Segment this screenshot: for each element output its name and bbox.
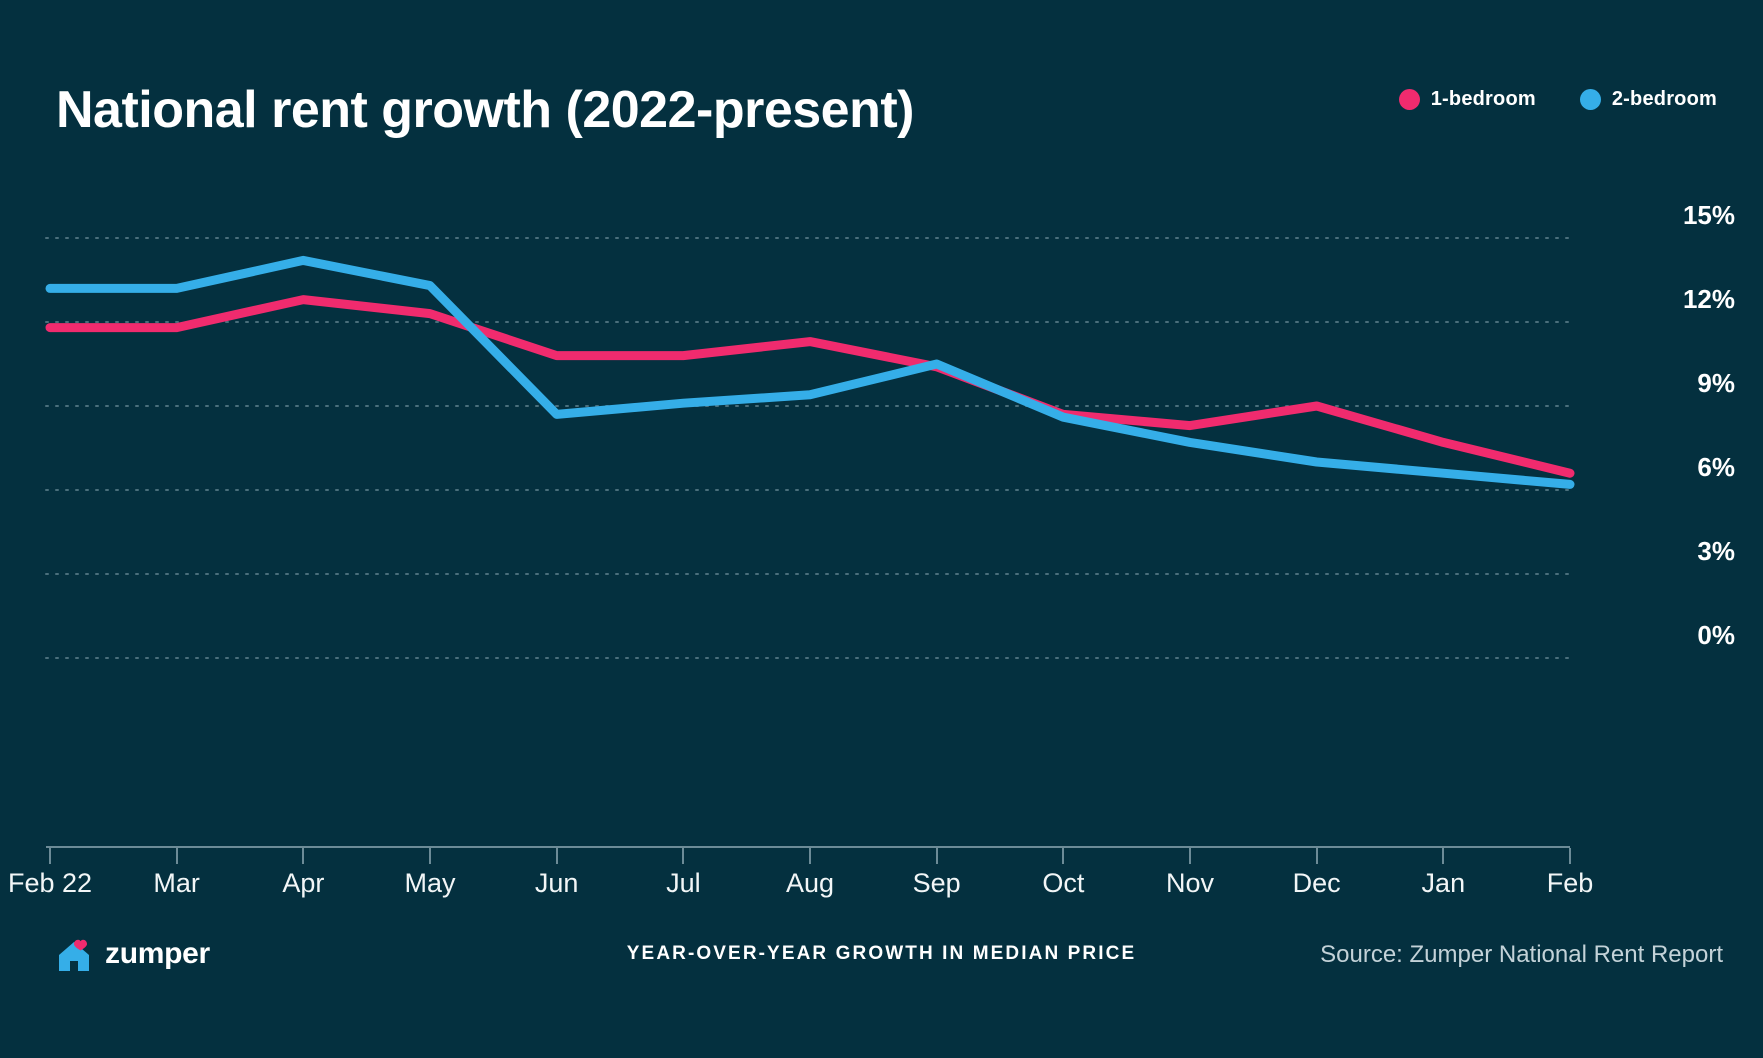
y-axis-tick-label: 15% xyxy=(1683,200,1735,231)
series-lines xyxy=(50,260,1570,484)
x-axis-tick-mark xyxy=(682,848,684,864)
x-axis-tick-mark xyxy=(1189,848,1191,864)
x-axis-tick-label: Jun xyxy=(535,868,579,899)
x-axis-tick-label: Dec xyxy=(1293,868,1341,899)
chart-legend: 1-bedroom 2-bedroom xyxy=(1399,88,1717,111)
x-axis-tick-label: Sep xyxy=(913,868,961,899)
gridlines xyxy=(46,238,1570,658)
y-axis-tick-label: 3% xyxy=(1697,536,1735,567)
legend-item-1-bedroom[interactable]: 1-bedroom xyxy=(1399,88,1536,111)
y-axis-tick-label: 6% xyxy=(1697,452,1735,483)
legend-label: 2-bedroom xyxy=(1612,88,1717,111)
legend-dot-icon xyxy=(1580,89,1601,110)
x-axis-tick-mark xyxy=(1316,848,1318,864)
x-axis-tick-mark xyxy=(809,848,811,864)
legend-label: 1-bedroom xyxy=(1431,88,1536,111)
x-axis: Feb 22MarAprMayJunJulAugSepOctNovDecJanF… xyxy=(0,846,1763,906)
x-axis-tick-mark xyxy=(556,848,558,864)
x-axis-tick-mark xyxy=(429,848,431,864)
series-line-2 xyxy=(50,260,1570,484)
x-axis-tick-label: Jul xyxy=(666,868,701,899)
chart-title: National rent growth (2022-present) xyxy=(56,78,914,142)
plot-area: 15%12%9%6%3%0% xyxy=(0,150,1763,830)
x-axis-tick-label: Aug xyxy=(786,868,834,899)
x-axis-tick-label: Oct xyxy=(1042,868,1084,899)
brand-name: zumper xyxy=(105,937,210,971)
legend-item-2-bedroom[interactable]: 2-bedroom xyxy=(1580,88,1717,111)
x-axis-tick-label: Jan xyxy=(1422,868,1466,899)
x-axis-tick-label: Apr xyxy=(282,868,324,899)
y-axis-tick-label: 0% xyxy=(1697,620,1735,651)
x-axis-tick-label: May xyxy=(404,868,455,899)
rent-growth-chart-card: National rent growth (2022-present) 1-be… xyxy=(0,0,1763,1058)
footer-source: Source: Zumper National Rent Report xyxy=(1320,941,1723,969)
y-axis-tick-label: 12% xyxy=(1683,284,1735,315)
chart-header: National rent growth (2022-present) 1-be… xyxy=(56,78,1723,148)
chart-canvas xyxy=(0,150,1763,830)
x-axis-tick-mark xyxy=(49,848,51,864)
x-axis-tick-label: Nov xyxy=(1166,868,1214,899)
zumper-logo[interactable]: zumper xyxy=(56,935,210,973)
x-axis-tick-mark xyxy=(936,848,938,864)
legend-dot-icon xyxy=(1399,89,1420,110)
x-axis-tick-label: Mar xyxy=(153,868,200,899)
x-axis-tick-mark xyxy=(1569,848,1571,864)
chart-footer: zumper YEAR-OVER-YEAR GROWTH IN MEDIAN P… xyxy=(0,935,1763,995)
house-heart-icon xyxy=(56,935,92,973)
x-axis-tick-mark xyxy=(1062,848,1064,864)
x-axis-line xyxy=(46,846,1570,848)
x-axis-tick-label: Feb 22 xyxy=(8,868,92,899)
series-line-1 xyxy=(50,300,1570,474)
x-axis-tick-mark xyxy=(1442,848,1444,864)
x-axis-tick-mark xyxy=(302,848,304,864)
x-axis-tick-label: Feb xyxy=(1547,868,1594,899)
footer-caption: YEAR-OVER-YEAR GROWTH IN MEDIAN PRICE xyxy=(627,943,1136,965)
x-axis-tick-mark xyxy=(176,848,178,864)
y-axis-tick-label: 9% xyxy=(1697,368,1735,399)
